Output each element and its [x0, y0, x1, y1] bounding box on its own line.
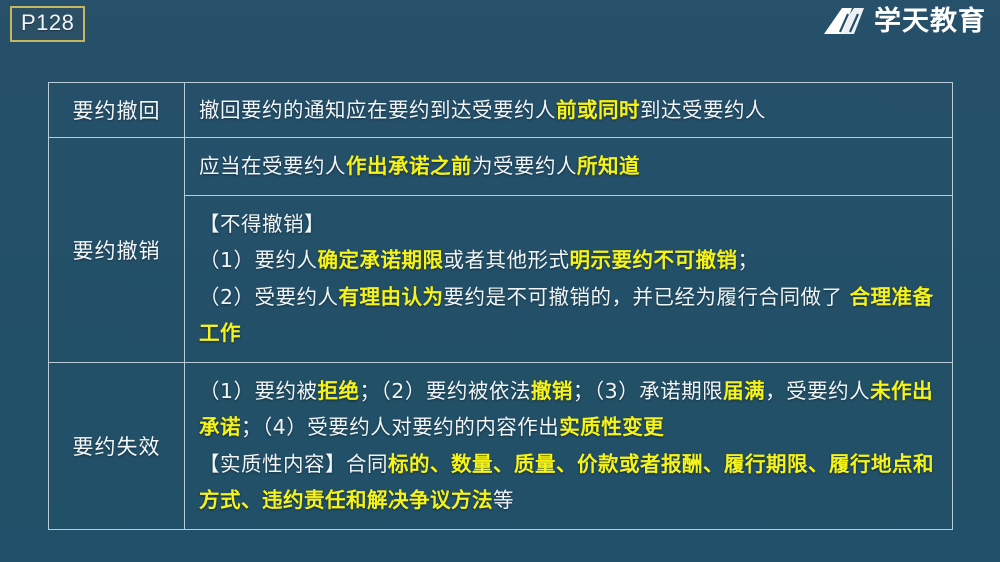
plain-text: 或者其他形式 — [444, 248, 570, 272]
highlighted-text: 拒绝 — [318, 379, 360, 403]
plain-text: ；（3）承诺期限 — [573, 379, 723, 403]
table-row: 要约失效（1）要约被拒绝；（2）要约被依法撤销；（3）承诺期限届满，受要约人未作… — [49, 363, 952, 529]
highlighted-text: 实质性变更 — [559, 415, 664, 439]
plain-text: 【实质性内容】合同 — [199, 452, 388, 476]
plain-text: （1）要约被 — [199, 379, 318, 403]
content-block: （1）要约被拒绝；（2）要约被依法撤销；（3）承诺期限届满，受要约人未作出承诺；… — [185, 363, 952, 529]
plain-text: ；（2）要约被依法 — [360, 379, 531, 403]
content-text: 撤回要约的通知应在要约到达受要约人前或同时到达受要约人 — [199, 92, 940, 128]
plain-text: 要约是不可撤销的，并已经为履行合同做了 — [444, 285, 850, 309]
plain-text: 【不得撤销】 （1）要约人 — [199, 212, 325, 272]
content-block: 【不得撤销】 （1）要约人确定承诺期限或者其他形式明示要约不可撤销； （2）受要… — [185, 196, 952, 362]
content-text: 【不得撤销】 （1）要约人确定承诺期限或者其他形式明示要约不可撤销； （2）受要… — [199, 206, 940, 352]
plain-text: 为受要约人 — [472, 154, 577, 178]
highlighted-text: 确定承诺期限 — [318, 248, 444, 272]
highlighted-text: 前或同时 — [556, 98, 640, 122]
highlighted-text: 所知道 — [577, 154, 640, 178]
road-arrow-icon — [822, 6, 866, 36]
content-text: 应当在受要约人作出承诺之前为受要约人所知道 — [199, 148, 940, 184]
content-block: 应当在受要约人作出承诺之前为受要约人所知道 — [185, 138, 952, 195]
brand-name: 学天教育 — [874, 8, 986, 35]
brand-logo: 学天教育 — [822, 6, 986, 36]
highlighted-text: 撤销 — [531, 379, 573, 403]
slide-canvas: P128 学天教育 要约撤回撤回要约的通知应在要约到达受要约人前或同时到达受要约… — [0, 0, 1000, 562]
plain-text: 撤回要约的通知应在要约到达受要约人 — [199, 98, 556, 122]
highlighted-text: 有理由认为 — [339, 285, 444, 309]
plain-text: 到达受要约人 — [640, 98, 766, 122]
highlighted-text: 作出承诺之前 — [346, 154, 472, 178]
row-content: 应当在受要约人作出承诺之前为受要约人所知道【不得撤销】 （1）要约人确定承诺期限… — [185, 138, 952, 361]
row-label: 要约撤销 — [49, 138, 185, 361]
highlighted-text: 明示要约不可撤销 — [570, 248, 738, 272]
row-label: 要约撤回 — [49, 83, 185, 137]
highlighted-text: 届满 — [723, 379, 765, 403]
content-block: 撤回要约的通知应在要约到达受要约人前或同时到达受要约人 — [185, 83, 952, 137]
table-row: 要约撤销应当在受要约人作出承诺之前为受要约人所知道【不得撤销】 （1）要约人确定… — [49, 138, 952, 362]
plain-text: ；（4）受要约人对要约的内容作出 — [241, 415, 559, 439]
plain-text: ，受要约人 — [765, 379, 870, 403]
row-content: 撤回要约的通知应在要约到达受要约人前或同时到达受要约人 — [185, 83, 952, 137]
table-row: 要约撤回撤回要约的通知应在要约到达受要约人前或同时到达受要约人 — [49, 83, 952, 138]
knowledge-table: 要约撤回撤回要约的通知应在要约到达受要约人前或同时到达受要约人要约撤销应当在受要… — [48, 82, 953, 530]
plain-text: 应当在受要约人 — [199, 154, 346, 178]
content-text: （1）要约被拒绝；（2）要约被依法撤销；（3）承诺期限届满，受要约人未作出承诺；… — [199, 373, 940, 519]
row-content: （1）要约被拒绝；（2）要约被依法撤销；（3）承诺期限届满，受要约人未作出承诺；… — [185, 363, 952, 529]
plain-text: 等 — [493, 488, 514, 512]
page-number-badge: P128 — [10, 6, 85, 42]
row-label: 要约失效 — [49, 363, 185, 529]
